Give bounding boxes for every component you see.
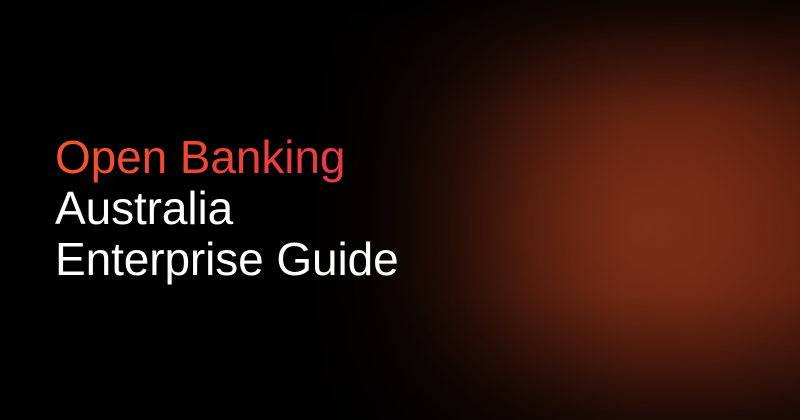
- headline-line-primary: Open Banking: [55, 132, 399, 183]
- title-banner: Open Banking Australia Enterprise Guide: [0, 0, 800, 420]
- headline-block: Open Banking Australia Enterprise Guide: [55, 132, 399, 285]
- headline-line-secondary: Australia: [55, 183, 399, 234]
- headline-line-tertiary: Enterprise Guide: [55, 234, 399, 285]
